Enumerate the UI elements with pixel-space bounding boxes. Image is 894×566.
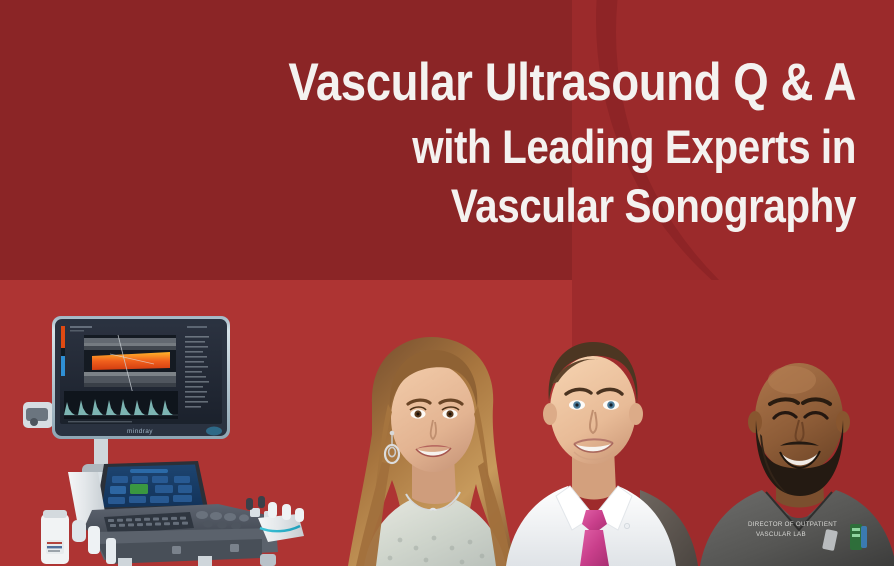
doctor-badge-line-2: VASCULAR LAB	[756, 531, 806, 538]
banner-title-line-2-lead: with	[412, 120, 502, 173]
touch-control-panel[interactable]	[96, 461, 208, 511]
banner-title-line-3: Vascular Sonography	[120, 182, 856, 229]
man-shirt-button	[624, 523, 629, 528]
monitor-brand-label: mindray	[127, 428, 153, 435]
doctor-badge-line-1: DIRECTOR OF OUTPATIENT	[748, 521, 837, 528]
banner-title-block: Vascular Ultrasound Q & A with Leading E…	[0, 0, 894, 229]
promo-banner: Vascular Ultrasound Q & A with Leading E…	[0, 0, 894, 566]
banner-title-line-2: with Leading Experts in	[120, 123, 856, 170]
gel-bottle	[41, 510, 69, 564]
spectral-doppler-waveform	[64, 391, 178, 419]
person-doctor-in-scrubs: DIRECTOR OF OUTPATIENT VASCULAR LAB	[700, 338, 894, 566]
person-man-in-suit	[490, 326, 702, 566]
ultrasound-machine: mindray	[22, 312, 314, 566]
banner-title-line-2-rest: Leading Experts in	[502, 120, 856, 173]
monitor: mindray	[52, 316, 230, 439]
banner-title-line-1: Vascular Ultrasound Q & A	[120, 56, 856, 109]
